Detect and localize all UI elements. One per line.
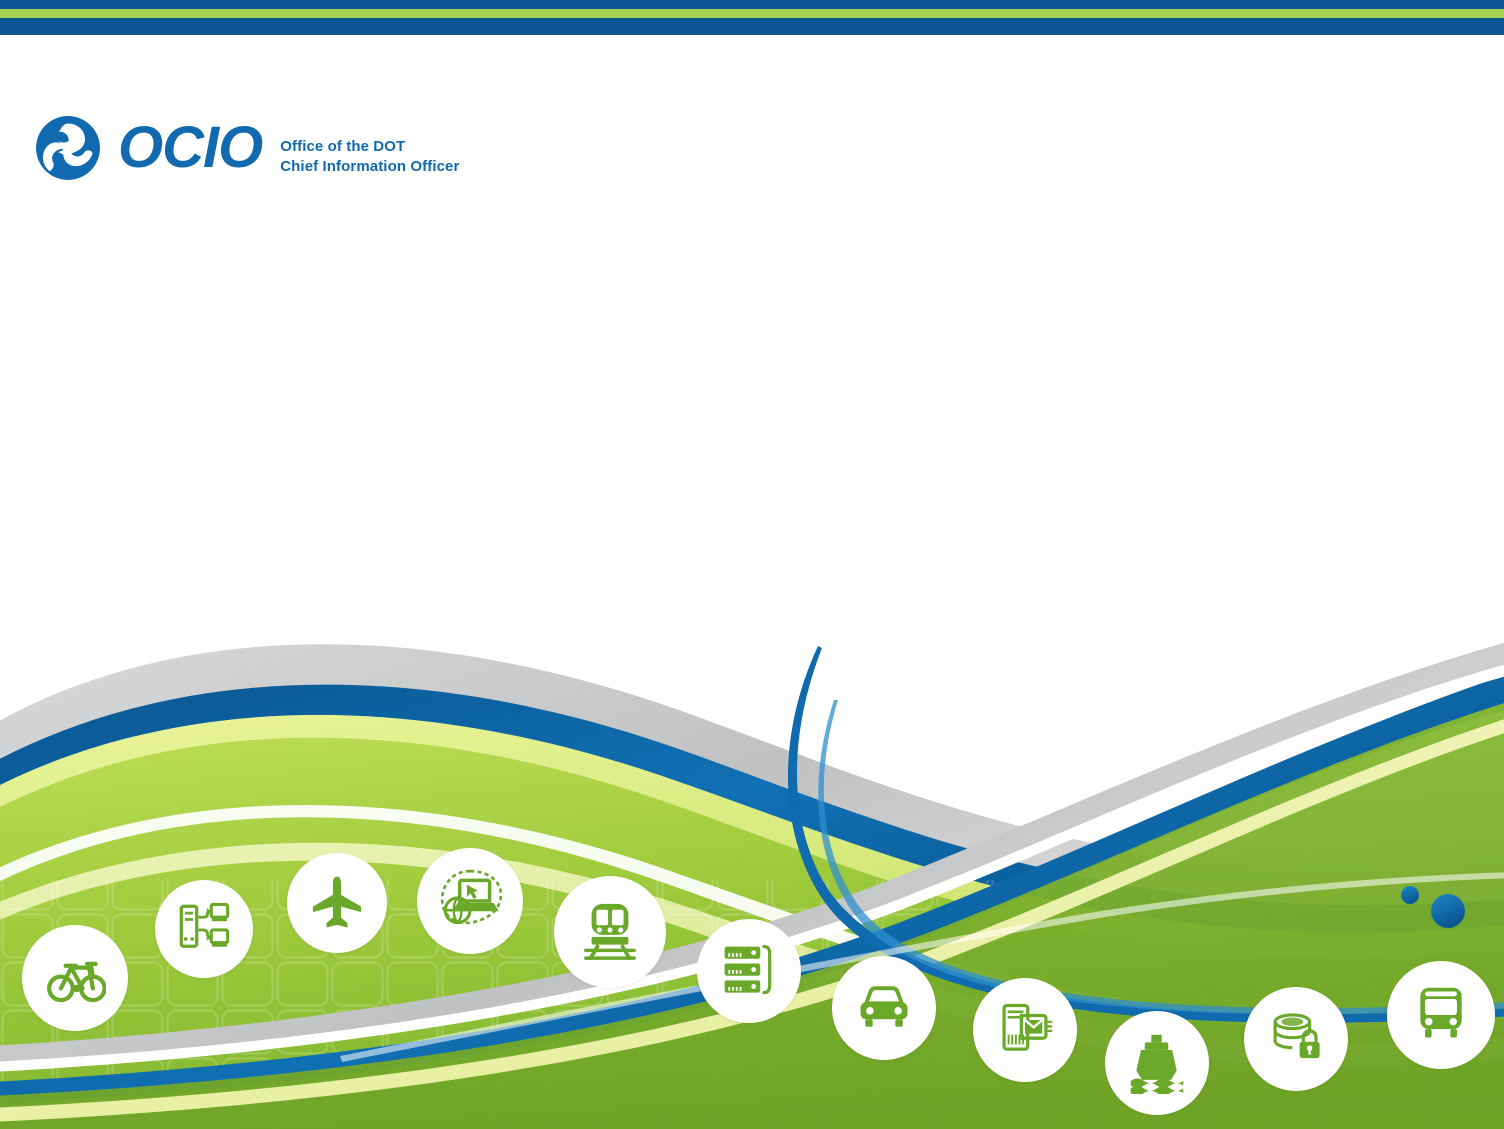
ocio-wordmark: OCIO	[118, 119, 262, 177]
bus-icon-badge[interactable]	[1387, 961, 1495, 1069]
car-icon	[853, 977, 915, 1039]
lower-blue-stripe	[0, 18, 1504, 35]
ocio-subtitle: Office of the DOT Chief Information Offi…	[280, 137, 459, 177]
green-stripe	[0, 9, 1504, 18]
airplane-icon	[307, 873, 367, 933]
bicycle-icon	[44, 947, 106, 1009]
database-lock-icon	[1266, 1009, 1326, 1069]
train-icon-badge[interactable]	[554, 876, 666, 988]
large-blue-dot	[1431, 894, 1465, 928]
ship-icon-badge[interactable]	[1105, 1011, 1209, 1115]
bus-icon	[1410, 984, 1472, 1046]
mobile-email-icon	[995, 1000, 1055, 1060]
ship-icon	[1126, 1032, 1188, 1094]
ocio-subtitle-line-1: Office of the DOT	[280, 137, 459, 157]
gray-swoosh-left	[0, 644, 1504, 913]
mobile-email-icon-badge[interactable]	[973, 978, 1077, 1082]
network-nodes-icon-badge[interactable]	[155, 880, 253, 978]
globe-laptop-icon	[436, 867, 504, 935]
server-rack-icon	[718, 940, 780, 1002]
dot-triskelion-icon	[34, 114, 102, 182]
car-icon-badge[interactable]	[832, 956, 936, 1060]
ocio-subtitle-line-2: Chief Information Officer	[280, 157, 459, 177]
train-icon	[578, 900, 642, 964]
title-content-area[interactable]	[90, 230, 1410, 610]
server-rack-icon-badge[interactable]	[697, 919, 801, 1023]
globe-laptop-icon-badge[interactable]	[417, 848, 523, 954]
slide-canvas: OCIO Office of the DOT Chief Information…	[0, 0, 1504, 1129]
upper-blue-stripe	[0, 0, 1504, 9]
airplane-icon-badge[interactable]	[287, 853, 387, 953]
ocio-logo-lockup[interactable]: OCIO Office of the DOT Chief Information…	[34, 108, 459, 188]
bicycle-icon-badge[interactable]	[22, 925, 128, 1031]
thin-blue-inner-echo	[818, 700, 1504, 1014]
network-nodes-icon	[174, 899, 234, 959]
small-blue-dot	[1401, 886, 1419, 904]
top-stripe-bar	[0, 0, 1504, 36]
database-lock-icon-badge[interactable]	[1244, 987, 1348, 1091]
